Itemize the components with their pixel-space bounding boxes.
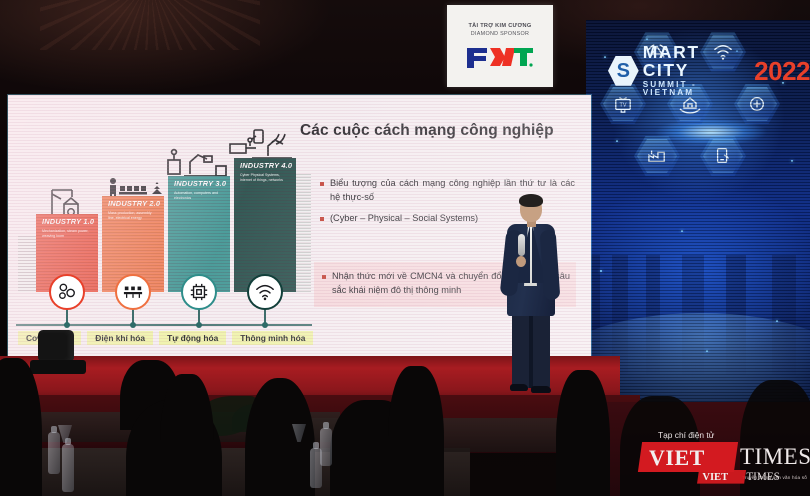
screenshot-root: TV S MART CITY SUMMIT - VIETNA <box>0 0 810 496</box>
slide-title: Các cuộc cách mạng công nghiệp <box>300 122 554 140</box>
bar-caption: INDUSTRY 4.0 <box>234 158 296 169</box>
timeline-dot <box>196 322 202 328</box>
watermark-viet: VIET <box>649 444 745 471</box>
sponsor-line-en: DIAMOND SPONSOR <box>471 31 529 37</box>
watermark-small-times: TIMES <box>746 470 779 483</box>
industry-revolutions-infographic: INDUSTRY 1.0 Mechanization, steam power,… <box>36 150 306 350</box>
bar-description: Mass production, assembly line, electric… <box>102 207 164 221</box>
ghost-bar-left <box>18 236 36 292</box>
spotlight-base <box>30 360 86 374</box>
speaker-shoe-left <box>510 384 528 391</box>
event-logo-sub: SUMMIT - VIETNAM <box>643 81 748 97</box>
watermark-kicker: Tạp chí điện tử <box>658 430 714 440</box>
bar-description: Mechanization, steam power, weaving loom <box>36 225 98 239</box>
stage-tag-2: Điện khí hóa <box>87 331 153 345</box>
speaker-presenter <box>498 196 568 396</box>
diamond-sponsor-board: TÀI TRỢ KIM CƯƠNG DIAMOND SPONSOR <box>447 5 553 87</box>
bar-description: Automation, computers and electronics <box>168 187 230 201</box>
audience-head <box>160 374 214 496</box>
speaker-shoe-right <box>531 386 551 393</box>
bullet-marker-icon <box>322 275 326 279</box>
microchip-icon <box>181 274 217 310</box>
event-logo-main: MART CITY <box>643 44 748 79</box>
gears-icon <box>49 274 85 310</box>
water-bottle <box>48 432 60 474</box>
ceiling-light-rays <box>40 0 260 50</box>
event-logo: S MART CITY SUMMIT - VIETNAM 2022 <box>608 44 810 97</box>
bullet-text: (Cyber – Physical – Social Systems) <box>330 212 478 226</box>
wifi-icon <box>247 274 283 310</box>
sponsor-line-vi: TÀI TRỢ KIM CƯƠNG <box>468 23 531 29</box>
bullet-marker-icon <box>320 217 324 221</box>
bullet-marker-icon <box>320 182 324 186</box>
audience-head <box>388 366 444 496</box>
speaker-hair <box>519 194 543 207</box>
water-bottle <box>62 444 74 492</box>
bar-caption: INDUSTRY 3.0 <box>168 176 230 187</box>
audience-head <box>556 370 610 496</box>
logo-hex-badge: S <box>608 56 639 86</box>
watermark-small-viet: VIET <box>702 471 728 483</box>
assembly-line-icon <box>115 274 151 310</box>
bar-description: Cyber Physical Systems, internet of thin… <box>234 169 296 183</box>
stage-tag-3: Tự động hóa <box>159 331 226 345</box>
bar-caption: INDUSTRY 1.0 <box>36 214 98 225</box>
event-logo-year: 2022 <box>754 58 810 84</box>
timeline-dot <box>130 322 136 328</box>
speaker-legs <box>512 312 550 388</box>
svg-text:TV: TV <box>620 103 627 109</box>
ghost-bar-right <box>296 174 311 292</box>
timeline-dot <box>64 322 70 328</box>
event-logo-words: MART CITY SUMMIT - VIETNAM <box>643 44 748 97</box>
timeline-dot <box>262 322 268 328</box>
bar-industry-4: INDUSTRY 4.0 Cyber Physical Systems, int… <box>234 158 296 292</box>
logo-s-letter: S <box>617 61 630 81</box>
speaker-hand <box>516 256 526 267</box>
fpt-logo <box>465 44 535 70</box>
microphone <box>518 234 525 256</box>
spotlight-head <box>38 330 74 362</box>
bar-caption: INDUSTRY 2.0 <box>102 196 164 207</box>
viettimes-watermark: Tạp chí điện tử VIET TIMES Truyền thông … <box>640 430 808 490</box>
stage-spotlight-fixture <box>28 330 88 378</box>
water-bottle <box>320 428 332 466</box>
stage-tag-4: Thông minh hóa <box>232 331 313 345</box>
watermark-times: TIMES <box>740 443 810 471</box>
